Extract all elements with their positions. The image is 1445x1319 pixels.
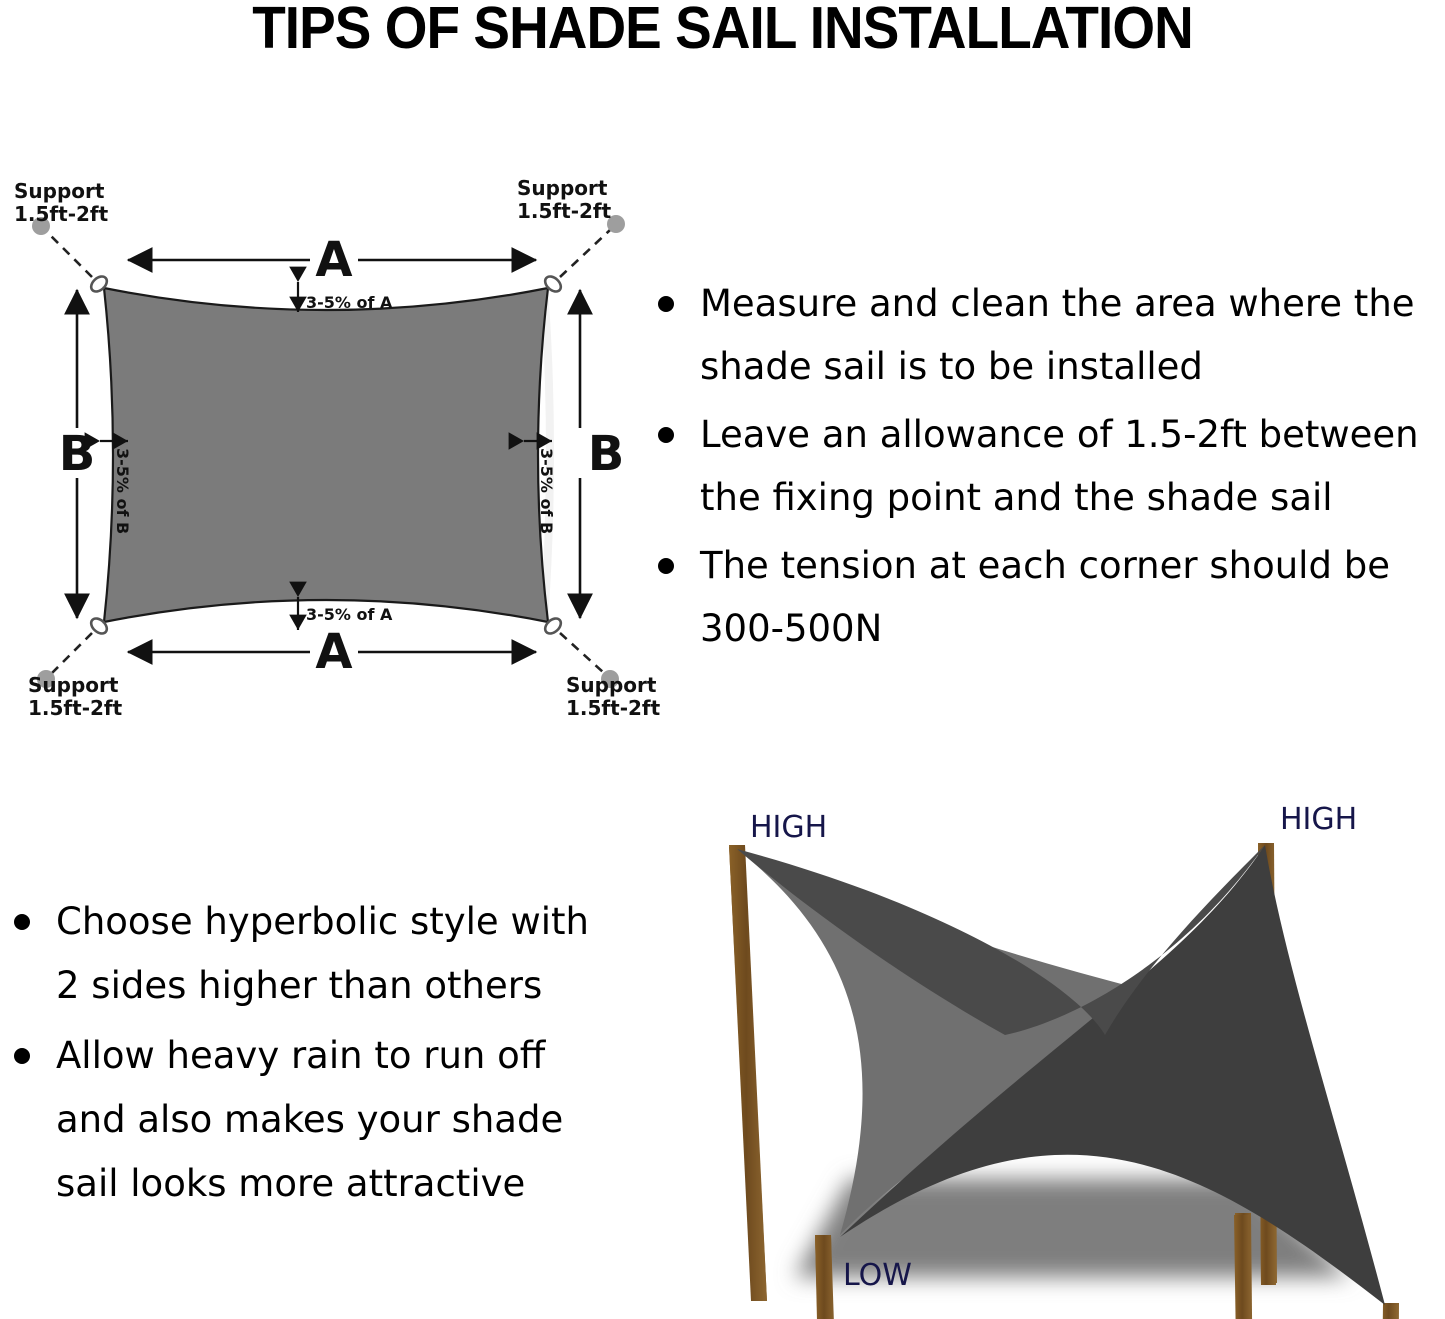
- support-label-line1: Support: [28, 673, 119, 697]
- curve-depth-left: 3-5% of B: [100, 441, 132, 534]
- curve-depth-label-top: 3-5% of A: [306, 293, 393, 312]
- rectangular-sail-diagram: Support 1.5ft-2ft Support 1.5ft-2ft Supp…: [0, 160, 660, 730]
- list-item: Measure and clean the area where the sha…: [644, 272, 1444, 398]
- support-label-line1: Support: [14, 179, 105, 203]
- support-label-line2: 1.5ft-2ft: [14, 202, 109, 226]
- post-label-low-left: LOW: [843, 1258, 912, 1293]
- post-label-high-left: HIGH: [750, 810, 827, 845]
- dimension-label-right-b: B: [588, 426, 625, 482]
- list-item: Leave an allowance of 1.5-2ft between th…: [644, 403, 1444, 529]
- support-label-top-right: Support 1.5ft-2ft: [517, 176, 612, 223]
- dimension-label-left-b: B: [59, 426, 96, 482]
- sail-shape: [104, 288, 554, 622]
- dimension-arrow-right-b: B: [580, 290, 624, 618]
- dimension-arrow-left-b: B: [59, 290, 96, 618]
- support-label-line2: 1.5ft-2ft: [566, 696, 660, 720]
- support-label-bottom-right: Support 1.5ft-2ft: [566, 673, 660, 720]
- support-label-line1: Support: [566, 673, 657, 697]
- tips-list-left: Choose hyperbolic style with 2 sides hig…: [0, 890, 620, 1222]
- support-label-line1: Support: [517, 176, 608, 200]
- list-item: Choose hyperbolic style with 2 sides hig…: [0, 890, 620, 1018]
- tips-list-right: Measure and clean the area where the sha…: [644, 272, 1444, 665]
- support-label-line2: 1.5ft-2ft: [517, 199, 612, 223]
- support-label-bottom-left: Support 1.5ft-2ft: [28, 673, 123, 720]
- support-label-line2: 1.5ft-2ft: [28, 696, 123, 720]
- curve-depth-label-bottom: 3-5% of A: [306, 605, 393, 624]
- support-label-top-left: Support 1.5ft-2ft: [14, 179, 109, 226]
- dimension-label-bottom-a: A: [315, 624, 352, 680]
- post-label-high-right: HIGH: [1280, 802, 1357, 837]
- infographic-page: TIPS OF SHADE SAIL INSTALLATION: [0, 0, 1445, 1319]
- page-title: TIPS OF SHADE SAIL INSTALLATION: [51, 0, 1395, 60]
- hyperbolic-sail-diagram: HIGH HIGH LOW LOW: [645, 785, 1445, 1319]
- curve-depth-label-right: 3-5% of B: [537, 448, 556, 534]
- sail-fabric: [104, 288, 548, 622]
- dimension-arrow-bottom-a: A: [128, 624, 536, 680]
- list-item: Allow heavy rain to run off and also mak…: [0, 1024, 620, 1216]
- list-item: The tension at each corner should be 300…: [644, 534, 1444, 660]
- curve-depth-label-left: 3-5% of B: [113, 448, 132, 534]
- dimension-arrow-top-a: A: [128, 232, 536, 288]
- dimension-label-top-a: A: [315, 232, 352, 288]
